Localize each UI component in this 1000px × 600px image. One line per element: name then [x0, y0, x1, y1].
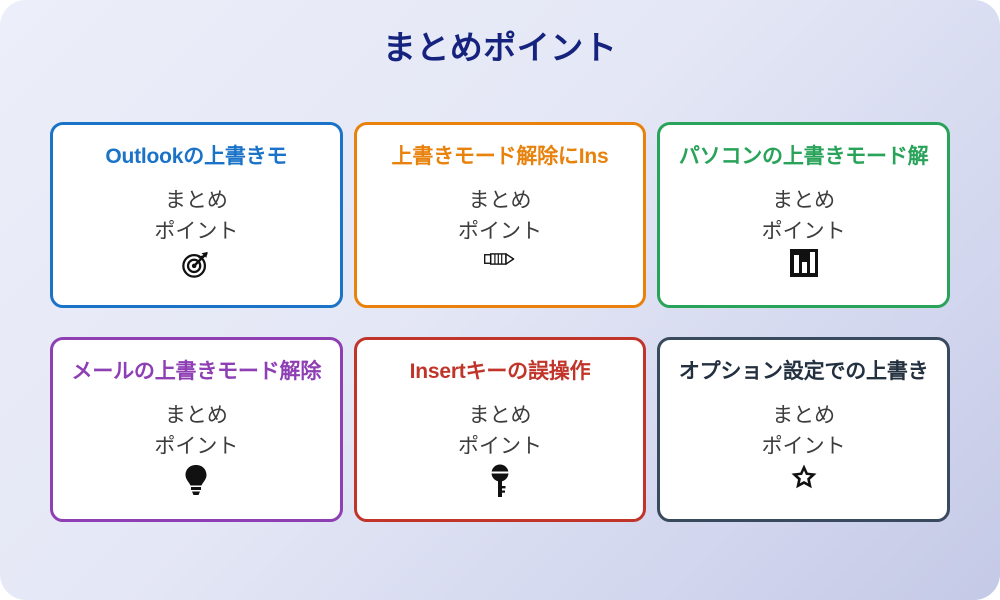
card-body-line-2: ポイント	[154, 431, 238, 462]
card-body: まとめ ポイント	[762, 185, 846, 247]
card-option-settings-overwrite[interactable]: オプション設定での上書き まとめ ポイント	[657, 337, 950, 523]
key-icon	[489, 464, 511, 498]
card-title: オプション設定での上書き	[679, 358, 929, 386]
card-body-line-2: ポイント	[762, 431, 846, 462]
cards-grid: Outlookの上書きモ まとめ ポイント 上書きモード解除にIns	[50, 122, 950, 522]
card-body-line-1: まとめ	[762, 400, 846, 431]
card-mail-overwrite-mode-release[interactable]: メールの上書きモード解除 まとめ ポイント	[50, 337, 343, 523]
card-body: まとめ ポイント	[458, 400, 542, 462]
card-body-line-1: まとめ	[458, 400, 542, 431]
card-body-line-2: ポイント	[458, 431, 542, 462]
summary-points-slide: まとめポイント Outlookの上書きモ まとめ ポイント	[0, 0, 1000, 600]
bar-chart-icon	[790, 249, 818, 277]
card-insert-key-misoperation[interactable]: Insertキーの誤操作 まとめ ポイント	[354, 337, 647, 523]
card-pc-overwrite-mode-release[interactable]: パソコンの上書きモード解 まとめ ポイント	[657, 122, 950, 308]
star-icon	[791, 464, 817, 489]
card-title: Insertキーの誤操作	[410, 358, 591, 386]
card-title: 上書きモード解除にIns	[392, 143, 609, 171]
card-overwrite-mode-release-ins[interactable]: 上書きモード解除にIns まとめ ポイント	[354, 122, 647, 308]
card-body: まとめ ポイント	[154, 400, 238, 462]
card-body: まとめ ポイント	[458, 185, 542, 247]
card-body: まとめ ポイント	[762, 400, 846, 462]
pencil-icon	[483, 249, 517, 269]
card-body-line-2: ポイント	[458, 216, 542, 247]
card-body-line-1: まとめ	[154, 185, 238, 216]
card-body-line-1: まとめ	[154, 400, 238, 431]
card-body: まとめ ポイント	[154, 185, 238, 247]
card-body-line-2: ポイント	[762, 216, 846, 247]
page-title: まとめポイント	[0, 26, 1000, 70]
card-title: メールの上書きモード解除	[72, 358, 322, 386]
card-title: Outlookの上書きモ	[105, 143, 287, 171]
card-outlook-overwrite[interactable]: Outlookの上書きモ まとめ ポイント	[50, 122, 343, 308]
card-title: パソコンの上書きモード解	[679, 143, 929, 171]
card-body-line-2: ポイント	[154, 216, 238, 247]
card-body-line-1: まとめ	[762, 185, 846, 216]
card-body-line-1: まとめ	[458, 185, 542, 216]
target-icon	[181, 249, 211, 279]
lightbulb-icon	[184, 464, 208, 496]
